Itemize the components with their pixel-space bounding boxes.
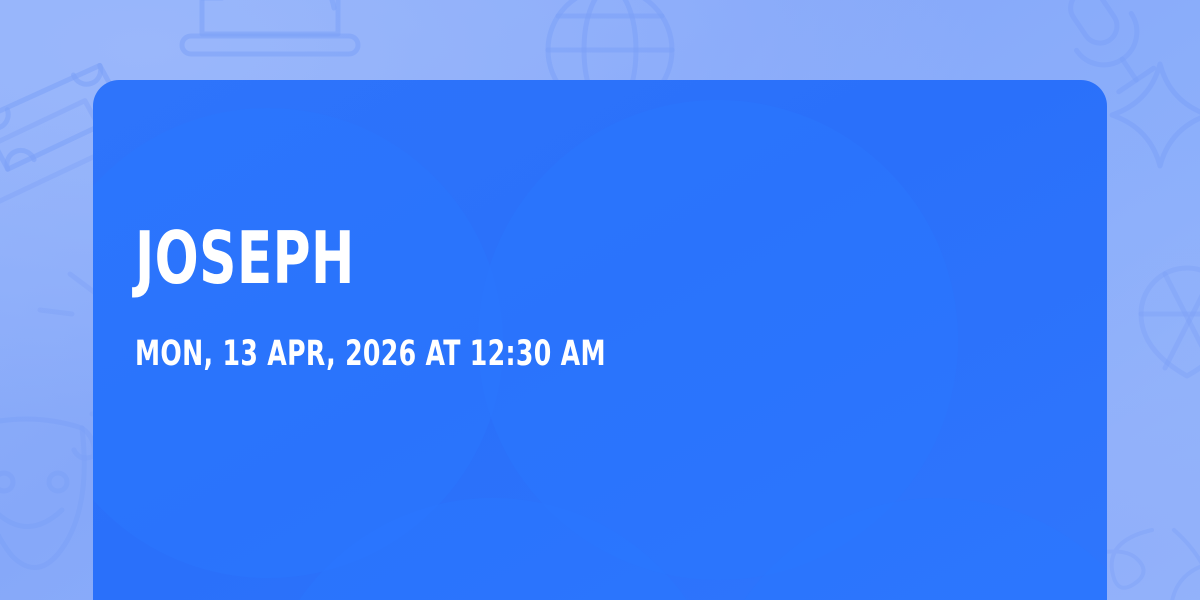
sparkle-star-icon — [1095, 50, 1200, 180]
guest-name: JOSEPH — [135, 222, 913, 294]
event-pass-screen: JOSEPH MON, 13 APR, 2026 AT 12:30 AM — [0, 0, 1200, 600]
guest-pass-card[interactable]: JOSEPH MON, 13 APR, 2026 AT 12:30 AM — [93, 80, 1107, 600]
event-datetime: MON, 13 APR, 2026 AT 12:30 AM — [135, 337, 913, 372]
balloon-icon — [1125, 250, 1200, 410]
card-content: JOSEPH MON, 13 APR, 2026 AT 12:30 AM — [93, 80, 1107, 600]
